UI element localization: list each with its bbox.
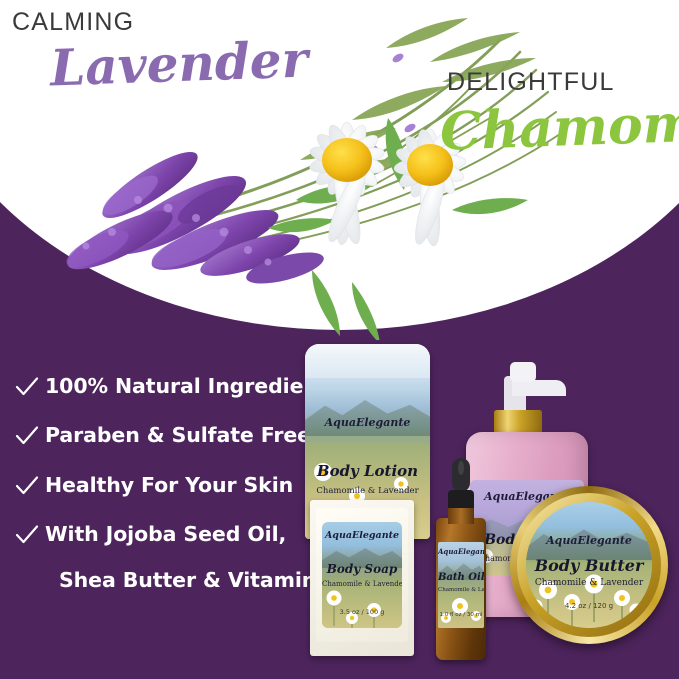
soap-name: Body Soap (322, 562, 402, 576)
benefit-label-line1: With Jojoba Seed Oil, (45, 522, 286, 546)
soap-size: 3.5 oz / 100 g (322, 608, 402, 616)
lavender-script-heading: Lavender (49, 30, 309, 98)
bath-oil-brand: AquaElegante (438, 547, 484, 556)
check-icon (14, 423, 40, 449)
benefit-label-line2: Shea Butter & Vitamin E (59, 567, 337, 594)
check-icon (14, 522, 40, 548)
product-bath-oil[interactable]: AquaElegante Bath Oil Chamomile & Lavend… (430, 456, 492, 661)
benefit-label: 100% Natural Ingredients (45, 373, 340, 400)
body-butter-brand: AquaElegante (526, 534, 652, 547)
product-lineup: AquaElegante Body Lotion Chamomile & Lav… (300, 336, 679, 679)
product-marketing-poster: CALMING Lavender DELIGHTFUL Chamomile 10… (0, 0, 679, 679)
lotion-scent: Chamomile & Lavender (305, 486, 430, 496)
product-body-butter[interactable]: AquaElegante Body Butter Chamomile & Lav… (510, 486, 668, 644)
body-butter-size: 4.2 oz / 120 g (526, 602, 652, 610)
body-butter-name: Body Butter (526, 556, 652, 575)
check-icon (14, 473, 40, 499)
product-body-soap[interactable]: AquaElegante Body Soap Chamomile & Laven… (310, 500, 414, 656)
soap-scent: Chamomile & Lavender (322, 580, 402, 588)
lotion-name: Body Lotion (305, 462, 430, 480)
calming-kicker: CALMING (12, 8, 134, 37)
check-icon (14, 374, 40, 400)
soap-brand: AquaElegante (322, 530, 402, 541)
delightful-kicker: DELIGHTFUL (447, 68, 615, 97)
bath-oil-scent: Chamomile & Lavender (438, 587, 484, 593)
body-butter-scent: Chamomile & Lavender (526, 578, 652, 588)
chamomile-script-heading: Chamomile (439, 90, 679, 162)
benefit-label: Paraben & Sulfate Free (45, 422, 311, 449)
benefit-label: With Jojoba Seed Oil, Shea Butter & Vita… (45, 521, 337, 594)
benefit-label: Healthy For Your Skin (45, 472, 293, 499)
bath-oil-name: Bath Oil (438, 572, 484, 583)
bath-oil-size: 1.0 fl oz / 30 ml (438, 612, 484, 618)
lotion-brand: AquaElegante (305, 416, 430, 429)
